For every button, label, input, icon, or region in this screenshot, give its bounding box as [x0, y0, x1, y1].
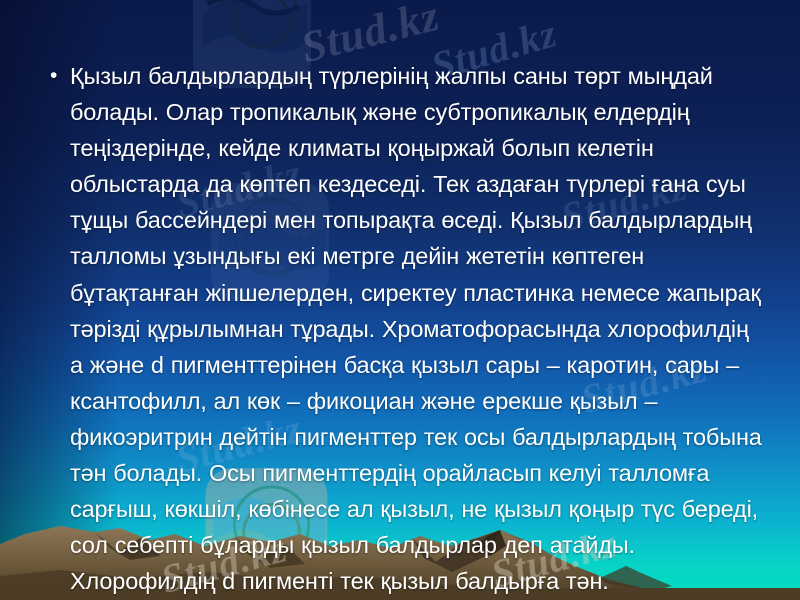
- slide-body-text-block: • Қызыл балдырлардың түрлерінің жалпы са…: [42, 58, 764, 599]
- bullet-marker: •: [42, 58, 70, 94]
- presentation-slide: Stud.kz Stud.kz Stud.kz Stud.kz Stud.kz …: [0, 0, 800, 600]
- slide-paragraph: Қызыл балдырлардың түрлерінің жалпы саны…: [70, 58, 764, 599]
